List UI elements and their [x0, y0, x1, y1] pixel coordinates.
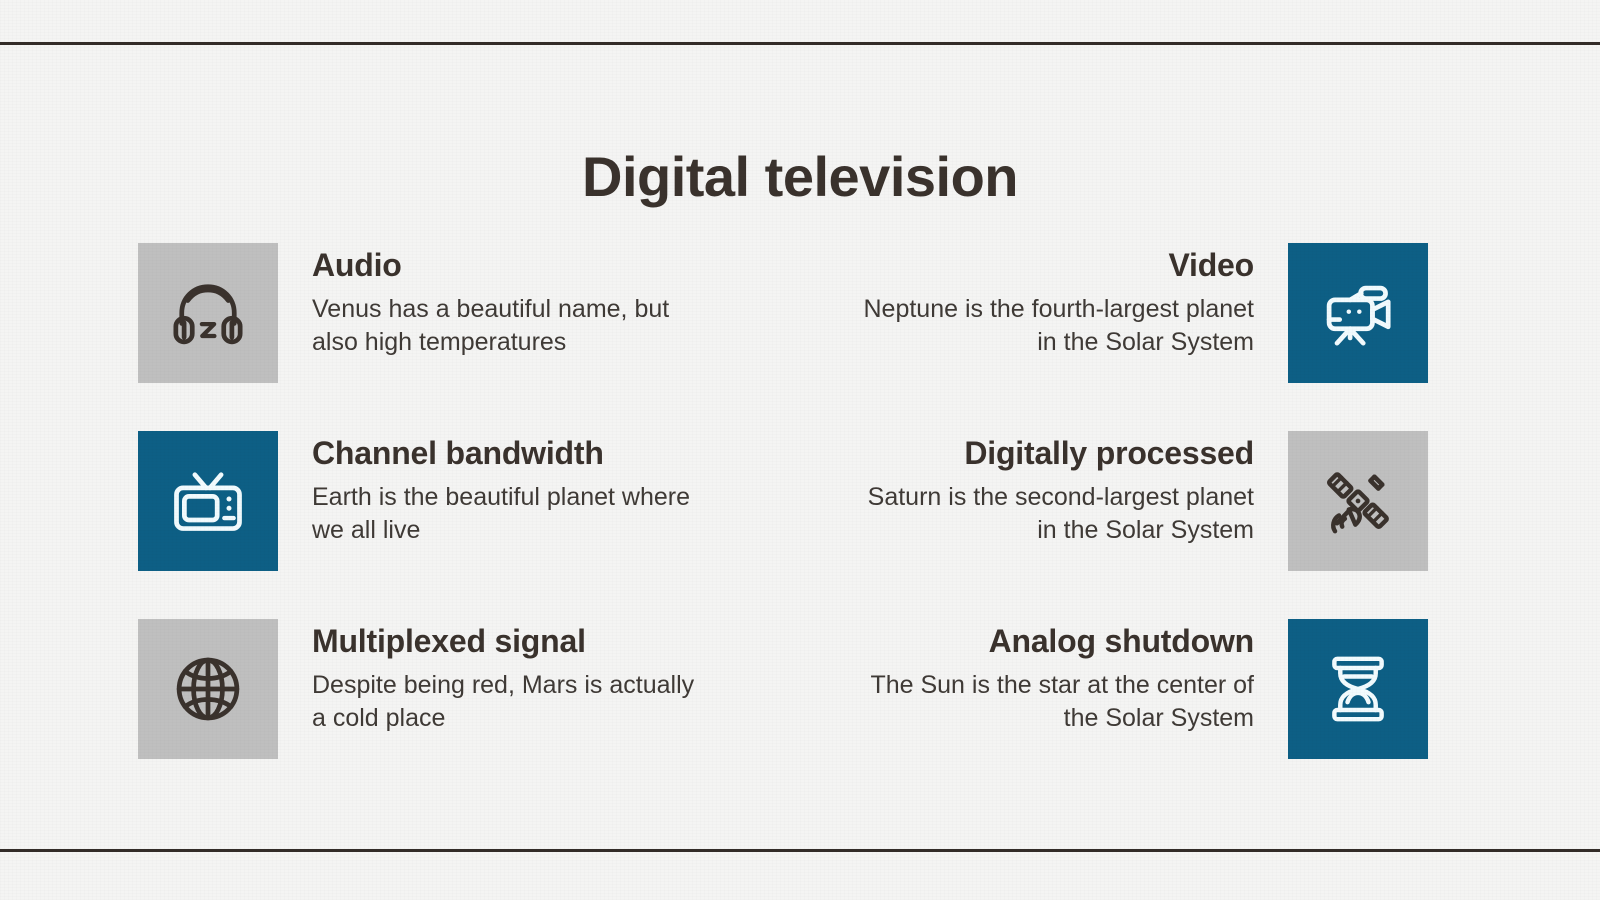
feature-icon-tile: [1288, 619, 1428, 759]
feature-title: Channel bandwidth: [312, 435, 712, 472]
retro-tv-icon: [166, 459, 250, 543]
feature-item-audio: Audio Venus has a beautiful name, but al…: [138, 243, 712, 388]
hourglass-icon: [1316, 647, 1400, 731]
feature-text-block: Multiplexed signal Despite being red, Ma…: [312, 619, 712, 736]
feature-title: Digitally processed: [854, 435, 1254, 472]
feature-icon-tile: [138, 243, 278, 383]
headphones-icon: [166, 271, 250, 355]
feature-icon-tile: [1288, 243, 1428, 383]
feature-item-digitally-processed: Digitally processed Saturn is the second…: [854, 431, 1428, 576]
feature-description: Venus has a beautiful name, but also hig…: [312, 293, 712, 360]
feature-item-multiplexed-signal: Multiplexed signal Despite being red, Ma…: [138, 619, 712, 764]
feature-icon-tile: [138, 619, 278, 759]
feature-description: The Sun is the star at the center of the…: [854, 669, 1254, 736]
feature-title: Audio: [312, 247, 712, 284]
video-camera-icon: [1316, 271, 1400, 355]
feature-grid: Audio Venus has a beautiful name, but al…: [0, 243, 1600, 807]
feature-description: Despite being red, Mars is actually a co…: [312, 669, 712, 736]
feature-row: Multiplexed signal Despite being red, Ma…: [0, 619, 1600, 807]
feature-text-block: Video Neptune is the fourth-largest plan…: [854, 243, 1254, 360]
feature-item-analog-shutdown: Analog shutdown The Sun is the star at t…: [854, 619, 1428, 764]
feature-title: Multiplexed signal: [312, 623, 712, 660]
feature-title: Analog shutdown: [854, 623, 1254, 660]
feature-description: Earth is the beautiful planet where we a…: [312, 481, 712, 548]
satellite-icon: [1316, 459, 1400, 543]
bottom-divider-rule: [0, 849, 1600, 852]
globe-grid-icon: [166, 647, 250, 731]
feature-text-block: Digitally processed Saturn is the second…: [854, 431, 1254, 548]
feature-row: Channel bandwidth Earth is the beautiful…: [0, 431, 1600, 619]
feature-title: Video: [854, 247, 1254, 284]
feature-text-block: Analog shutdown The Sun is the star at t…: [854, 619, 1254, 736]
feature-item-channel-bandwidth: Channel bandwidth Earth is the beautiful…: [138, 431, 712, 576]
feature-description: Saturn is the second-largest planet in t…: [854, 481, 1254, 548]
feature-row: Audio Venus has a beautiful name, but al…: [0, 243, 1600, 431]
page-title: Digital television: [0, 146, 1600, 208]
feature-text-block: Audio Venus has a beautiful name, but al…: [312, 243, 712, 360]
feature-icon-tile: [138, 431, 278, 571]
feature-text-block: Channel bandwidth Earth is the beautiful…: [312, 431, 712, 548]
feature-icon-tile: [1288, 431, 1428, 571]
feature-description: Neptune is the fourth-largest planet in …: [854, 293, 1254, 360]
top-divider-rule: [0, 42, 1600, 45]
feature-item-video: Video Neptune is the fourth-largest plan…: [854, 243, 1428, 388]
